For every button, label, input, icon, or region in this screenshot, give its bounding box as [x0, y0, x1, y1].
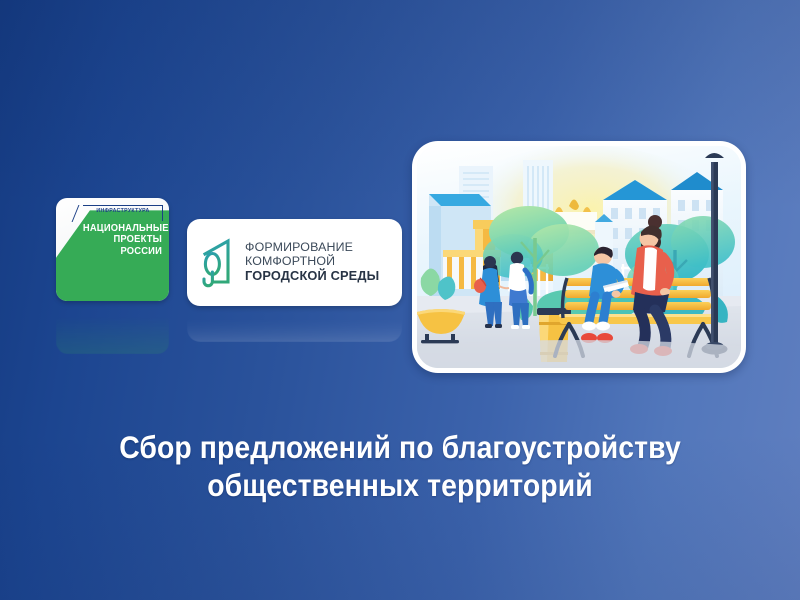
cu-title: ФОРМИРОВАНИЕ КОМФОРТНОЙ ГОРОДСКОЙ СРЕДЫ: [245, 241, 379, 283]
np-title: НАЦИОНАЛЬНЫЕ ПРОЕКТЫ РОССИИ: [83, 223, 162, 257]
page-title-line2: общественных территорий: [40, 466, 760, 504]
logo-row: ИНФРАСТРУКТУРА НАЦИОНАЛЬНЫЕ ПРОЕКТЫ РОСС…: [56, 198, 402, 306]
comfortable-environment-logo-reflection: [187, 308, 402, 342]
np-kicker-label: ИНФРАСТРУКТУРА: [84, 208, 162, 214]
np-title-line2: ПРОЕКТЫ: [83, 234, 162, 245]
page-title-line1: Сбор предложений по благоустройству: [40, 428, 760, 466]
np-title-line1: НАЦИОНАЛЬНЫЕ: [83, 223, 162, 234]
house-keyhole-icon: [199, 238, 234, 288]
cu-title-line3: ГОРОДСКОЙ СРЕДЫ: [245, 269, 379, 283]
page-title: Сбор предложений по благоустройству обще…: [40, 428, 760, 504]
national-projects-logo-reflection: [56, 302, 169, 354]
comfortable-urban-environment-logo: ФОРМИРОВАНИЕ КОМФОРТНОЙ ГОРОДСКОЙ СРЕДЫ: [187, 219, 402, 306]
poster: ИНФРАСТРУКТУРА НАЦИОНАЛЬНЫЕ ПРОЕКТЫ РОСС…: [0, 0, 800, 600]
city-park-illustration: [417, 146, 741, 368]
national-projects-russia-logo: ИНФРАСТРУКТУРА НАЦИОНАЛЬНЫЕ ПРОЕКТЫ РОСС…: [56, 198, 169, 301]
cu-title-line2: КОМФОРТНОЙ: [245, 255, 379, 269]
np-title-line3: РОССИИ: [83, 246, 162, 257]
city-park-illustration-card: [412, 141, 746, 373]
